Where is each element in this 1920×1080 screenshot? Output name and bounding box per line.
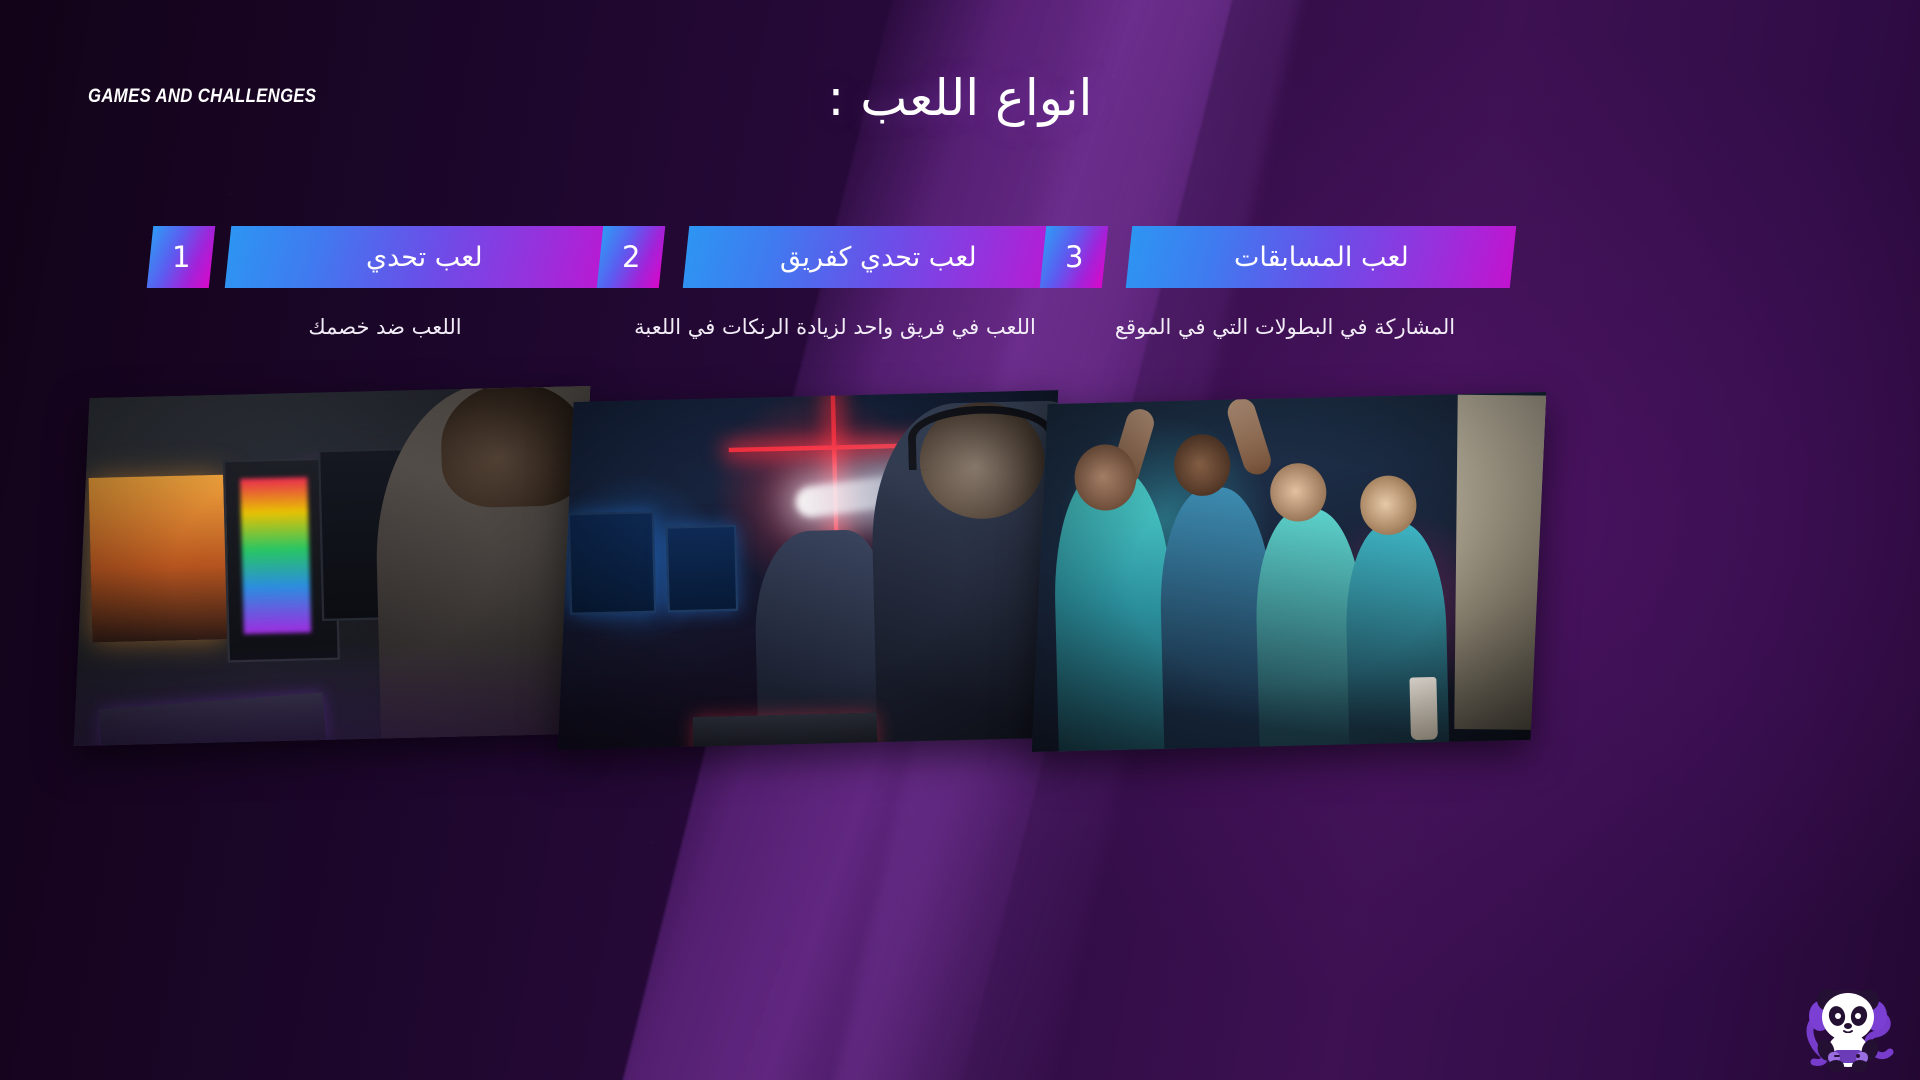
card-2-number: 2 bbox=[622, 240, 640, 274]
solo-gamer-photo-content bbox=[74, 386, 591, 746]
cheering-team-victory-photo bbox=[1032, 392, 1547, 752]
player-face-d bbox=[1359, 475, 1416, 535]
lan-monitor-b bbox=[666, 525, 739, 612]
game-screen bbox=[89, 475, 228, 642]
player-face-a bbox=[1073, 443, 1136, 511]
esports-team-lan-photo bbox=[558, 390, 1059, 750]
desk-glow bbox=[74, 637, 591, 746]
card-2-header: 2 لعب تحدي كفريق bbox=[600, 226, 1070, 288]
card-3-header: 3 لعب المسابقات bbox=[1043, 226, 1513, 288]
card-1-description: اللعب ضد خصمك bbox=[150, 308, 620, 347]
photos-row bbox=[0, 392, 1920, 752]
card-1-title-bar: لعب تحدي bbox=[225, 226, 624, 288]
card-1-header: 1 لعب تحدي bbox=[150, 226, 620, 288]
rgb-lighting bbox=[240, 477, 311, 634]
tournament-monitor bbox=[1455, 395, 1547, 731]
solo-gamer-rgb-pc-photo bbox=[74, 386, 591, 746]
card-1-number-badge: 1 bbox=[147, 226, 216, 288]
esports-photo-content bbox=[558, 390, 1059, 750]
game-type-card-1[interactable]: 1 لعب تحدي اللعب ضد خصمك bbox=[150, 226, 620, 288]
panda-gaming-mascot-logo[interactable] bbox=[1792, 970, 1904, 1074]
game-type-card-2[interactable]: 2 لعب تحدي كفريق اللعب في فريق واحد لزيا… bbox=[600, 226, 1070, 288]
slide-canvas: GAMES AND CHALLENGES انواع اللعب : 1 لعب… bbox=[0, 0, 1920, 1080]
card-3-title-bar: لعب المسابقات bbox=[1126, 226, 1517, 288]
card-1-number: 1 bbox=[172, 240, 190, 274]
cheering-photo-content bbox=[1032, 392, 1547, 752]
game-type-card-3[interactable]: 3 لعب المسابقات المشاركة في البطولات الت… bbox=[1043, 226, 1513, 288]
page-title: انواع اللعب : bbox=[0, 72, 1920, 125]
panda-logo-icon bbox=[1792, 970, 1904, 1074]
raised-arm-b bbox=[1224, 395, 1274, 478]
card-3-number-badge: 3 bbox=[1040, 226, 1109, 288]
lan-monitor-a bbox=[568, 511, 657, 614]
card-2-description: اللعب في فريق واحد لزيادة الرنكات في الل… bbox=[600, 308, 1070, 347]
card-2-title-bar: لعب تحدي كفريق bbox=[683, 226, 1074, 288]
lan-keyboard bbox=[692, 712, 878, 750]
card-3-title: لعب المسابقات bbox=[1234, 242, 1409, 273]
card-2-number-badge: 2 bbox=[597, 226, 666, 288]
gamer-head bbox=[440, 386, 589, 509]
card-3-number: 3 bbox=[1065, 240, 1083, 274]
drink-cup bbox=[1409, 677, 1438, 740]
card-2-title: لعب تحدي كفريق bbox=[780, 242, 977, 273]
player-face-c bbox=[1270, 462, 1327, 522]
card-3-description: المشاركة في البطولات التي في الموقع bbox=[1035, 308, 1535, 347]
card-1-title: لعب تحدي bbox=[366, 242, 483, 273]
